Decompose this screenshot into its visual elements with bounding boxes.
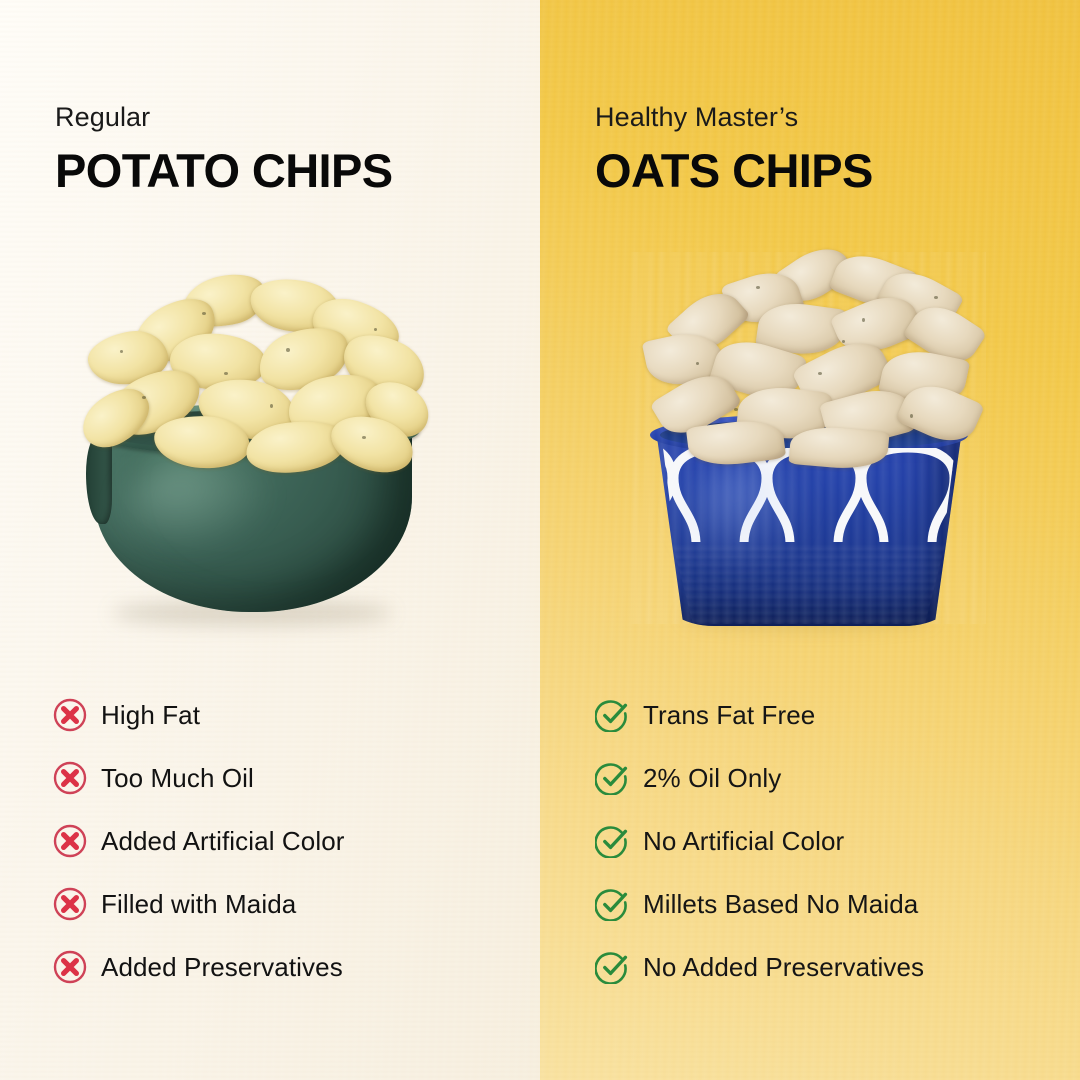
check-circle-icon bbox=[595, 698, 629, 732]
list-item: Millets Based No Maida bbox=[595, 872, 924, 935]
left-heading-block: Regular POTATO CHIPS bbox=[55, 104, 393, 194]
list-item-label: High Fat bbox=[101, 702, 200, 728]
list-item: No Added Preservatives bbox=[595, 935, 924, 998]
green-bowl-highlight bbox=[124, 460, 274, 556]
list-item: Too Much Oil bbox=[53, 746, 345, 809]
cross-circle-icon bbox=[53, 761, 87, 795]
list-item: Filled with Maida bbox=[53, 872, 345, 935]
cross-circle-icon bbox=[53, 698, 87, 732]
cross-circle-icon bbox=[53, 887, 87, 921]
list-item-label: Filled with Maida bbox=[101, 891, 296, 917]
list-item-label: No Artificial Color bbox=[643, 828, 844, 854]
list-item: No Artificial Color bbox=[595, 809, 924, 872]
oats-chips-pile bbox=[638, 252, 982, 462]
check-circle-icon bbox=[595, 950, 629, 984]
check-circle-icon bbox=[595, 824, 629, 858]
list-item-label: Added Artificial Color bbox=[101, 828, 345, 854]
check-circle-icon bbox=[595, 887, 629, 921]
list-item: High Fat bbox=[53, 683, 345, 746]
left-eyebrow: Regular bbox=[55, 104, 393, 131]
list-item-label: Trans Fat Free bbox=[643, 702, 815, 728]
check-circle-icon bbox=[595, 761, 629, 795]
list-item-label: Millets Based No Maida bbox=[643, 891, 918, 917]
list-item: Added Artificial Color bbox=[53, 809, 345, 872]
potato-chips-bowl-image bbox=[72, 270, 432, 620]
blue-bowl-highlight bbox=[686, 462, 806, 572]
list-item: Trans Fat Free bbox=[595, 683, 924, 746]
list-item-label: Too Much Oil bbox=[101, 765, 254, 791]
comparison-infographic: Regular POTATO CHIPS Healthy Master’s OA… bbox=[0, 0, 1080, 1080]
right-heading-block: Healthy Master’s OATS CHIPS bbox=[595, 104, 873, 194]
list-item-label: 2% Oil Only bbox=[643, 765, 781, 791]
right-eyebrow: Healthy Master’s bbox=[595, 104, 873, 131]
cross-circle-icon bbox=[53, 950, 87, 984]
oats-chips-bowl-image bbox=[630, 252, 986, 624]
left-title: POTATO CHIPS bbox=[55, 147, 393, 194]
list-item: 2% Oil Only bbox=[595, 746, 924, 809]
potato-chips-pile bbox=[74, 276, 430, 466]
list-item-label: No Added Preservatives bbox=[643, 954, 924, 980]
list-item-label: Added Preservatives bbox=[101, 954, 343, 980]
list-item: Added Preservatives bbox=[53, 935, 345, 998]
left-feature-list: High Fat Too Much Oil Added Artificial C… bbox=[53, 683, 345, 998]
right-feature-list: Trans Fat Free 2% Oil Only No Artificial… bbox=[595, 683, 924, 998]
cross-circle-icon bbox=[53, 824, 87, 858]
right-title: OATS CHIPS bbox=[595, 147, 873, 194]
